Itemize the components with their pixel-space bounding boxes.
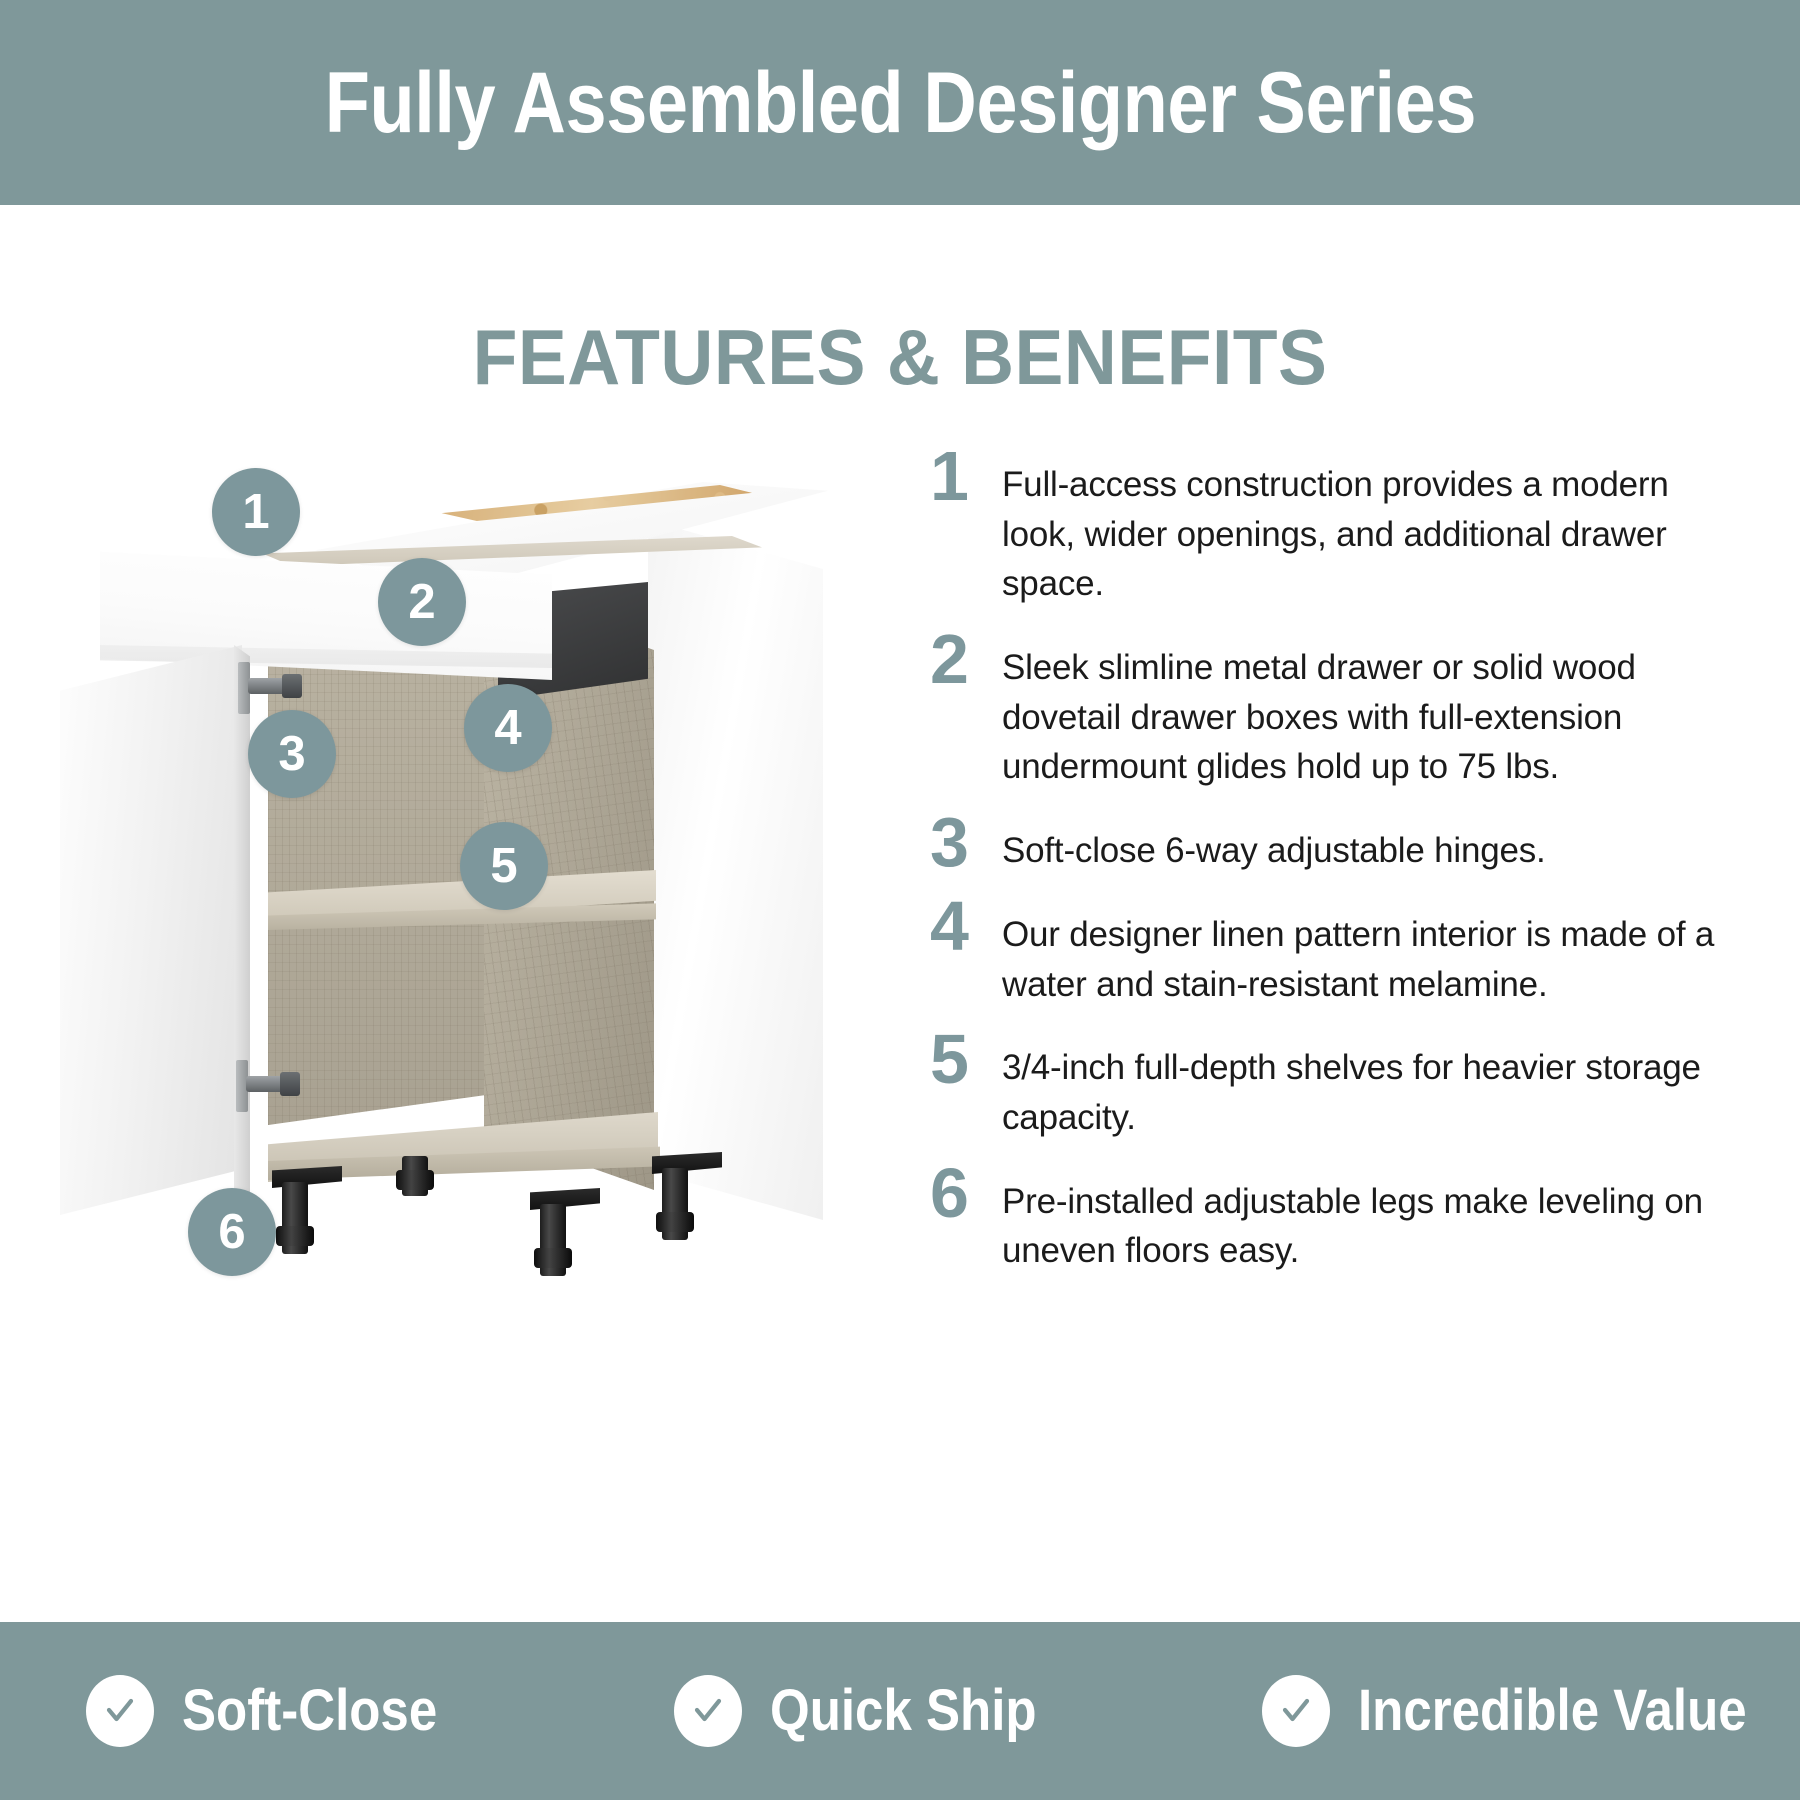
feature-number-4: 4 xyxy=(930,894,1002,958)
feature-text-1: Full-access construction provides a mode… xyxy=(1002,450,1730,609)
callout-badge-6: 6 xyxy=(188,1188,276,1276)
section-heading: FEATURES & BENEFITS xyxy=(54,318,1746,396)
feature-item-6: 6 Pre-installed adjustable legs make lev… xyxy=(930,1167,1730,1276)
leg-collar xyxy=(656,1212,694,1232)
leg-collar xyxy=(396,1170,434,1190)
callout-badge-4: 4 xyxy=(464,684,552,772)
feature-text-2: Sleek slimline metal drawer or solid woo… xyxy=(1002,633,1730,792)
feature-item-1: 1 Full-access construction provides a mo… xyxy=(930,450,1730,609)
callout-badge-1: 1 xyxy=(212,468,300,556)
feature-item-3: 3 Soft-close 6-way adjustable hinges. xyxy=(930,816,1730,876)
footer-label-incredible-value: Incredible Value xyxy=(1358,1682,1747,1740)
cabinet-door-edge xyxy=(234,645,250,1215)
check-circle-icon xyxy=(1262,1675,1330,1747)
feature-list: 1 Full-access construction provides a mo… xyxy=(930,450,1730,1300)
soft-close-hinge-icon xyxy=(238,662,300,714)
feature-number-3: 3 xyxy=(930,810,1002,874)
cabinet-right-side-panel xyxy=(648,520,823,1220)
feature-number-1: 1 xyxy=(930,444,1002,508)
content-area: 1 2 3 4 5 6 1 Full-access construction p… xyxy=(0,430,1800,1590)
page-footer: Soft-Close Quick Ship Incredible Value xyxy=(0,1622,1800,1800)
page-title: Fully Assembled Designer Series xyxy=(324,60,1475,146)
feature-number-6: 6 xyxy=(930,1161,1002,1225)
feature-item-5: 5 3/4-inch full-depth shelves for heavie… xyxy=(930,1033,1730,1142)
hinge-cup xyxy=(280,1072,300,1096)
footer-badge-quick-ship: Quick Ship xyxy=(588,1675,1176,1747)
feature-item-4: 4 Our designer linen pattern interior is… xyxy=(930,900,1730,1009)
callout-badge-3: 3 xyxy=(248,710,336,798)
feature-text-4: Our designer linen pattern interior is m… xyxy=(1002,900,1730,1009)
feature-text-6: Pre-installed adjustable legs make level… xyxy=(1002,1167,1730,1276)
check-circle-icon xyxy=(674,1675,742,1747)
product-illustration: 1 2 3 4 5 6 xyxy=(40,440,820,1320)
interior-back-panel-linen xyxy=(268,625,486,1125)
page-header: Fully Assembled Designer Series xyxy=(0,0,1800,205)
callout-badge-2: 2 xyxy=(378,558,466,646)
hinge-cup xyxy=(282,674,302,698)
footer-badge-incredible-value: Incredible Value xyxy=(1176,1675,1800,1747)
cabinet-door-open xyxy=(60,645,242,1215)
footer-label-soft-close: Soft-Close xyxy=(182,1682,437,1740)
soft-close-hinge-icon xyxy=(236,1060,298,1112)
feature-text-3: Soft-close 6-way adjustable hinges. xyxy=(1002,816,1730,876)
feature-item-2: 2 Sleek slimline metal drawer or solid w… xyxy=(930,633,1730,792)
leg-collar xyxy=(534,1248,572,1268)
feature-number-2: 2 xyxy=(930,627,1002,691)
callout-badge-5: 5 xyxy=(460,822,548,910)
feature-number-5: 5 xyxy=(930,1027,1002,1091)
check-circle-icon xyxy=(86,1675,154,1747)
leg-collar xyxy=(276,1226,314,1246)
footer-label-quick-ship: Quick Ship xyxy=(770,1682,1037,1740)
feature-text-5: 3/4-inch full-depth shelves for heavier … xyxy=(1002,1033,1730,1142)
footer-badge-soft-close: Soft-Close xyxy=(0,1675,588,1747)
